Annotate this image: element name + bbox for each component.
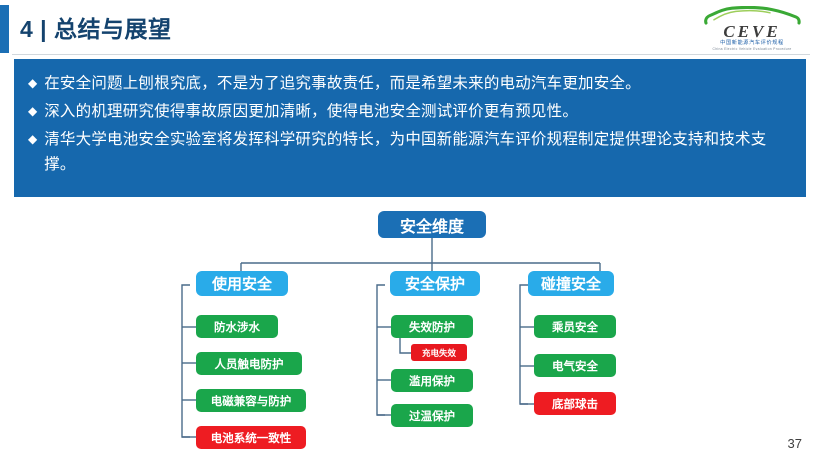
logo-wordmark: CEVE — [696, 24, 808, 39]
ceve-logo: CEVE 中国新能源汽车评价规程 China Electric Vehicle … — [696, 6, 808, 52]
tree-node-collision-safety[interactable]: 碰撞安全 — [528, 271, 614, 296]
tree-leaf-bottom-ball-impact[interactable]: 底部球击 — [534, 392, 616, 415]
page-number: 37 — [788, 436, 802, 451]
tree-leaf-occupant-safety[interactable]: 乘员安全 — [534, 315, 616, 338]
tree-node-usage-safety[interactable]: 使用安全 — [196, 271, 288, 296]
banner-bullet-2-text: 深入的机理研究使得事故原因更加清晰，使得电池安全测试评价更有预见性。 — [44, 99, 792, 124]
tree-leaf-electrical-safety[interactable]: 电气安全 — [534, 354, 616, 377]
tree-leaf-abuse-protection[interactable]: 滥用保护 — [391, 369, 473, 392]
page-title: 4 | 总结与展望 — [20, 10, 172, 44]
tree-leaf-emc-protection[interactable]: 电磁兼容与防护 — [196, 389, 306, 412]
tree-leaf-electric-shock-protection[interactable]: 人员触电防护 — [196, 352, 302, 375]
header-accent-bar — [0, 5, 9, 53]
tree-subleaf-charging-failure[interactable]: 充电失效 — [411, 344, 467, 361]
banner-bullet-3-text: 清华大学电池安全实验室将发挥科学研究的特长，为中国新能源汽车评价规程制定提供理论… — [44, 127, 792, 177]
tree-leaf-waterproof-wading[interactable]: 防水涉水 — [196, 315, 278, 338]
logo-chinese-subtitle: 中国新能源汽车评价规程 — [696, 40, 808, 47]
diamond-bullet-icon: ◆ — [28, 127, 37, 152]
banner-bullet-3: ◆ 清华大学电池安全实验室将发挥科学研究的特长，为中国新能源汽车评价规程制定提供… — [28, 127, 792, 177]
tree-leaf-battery-system-consistency[interactable]: 电池系统一致性 — [196, 426, 306, 449]
logo-english-subtitle: China Electric Vehicle Evaluation Proced… — [696, 47, 808, 52]
tree-leaf-failure-protection[interactable]: 失效防护 — [391, 315, 473, 338]
banner-bullet-2: ◆ 深入的机理研究使得事故原因更加清晰，使得电池安全测试评价更有预见性。 — [28, 99, 792, 124]
banner-bullet-1-text: 在安全问题上刨根究底，不是为了追究事故责任，而是希望未来的电动汽车更加安全。 — [44, 71, 792, 96]
summary-banner: ◆ 在安全问题上刨根究底，不是为了追究事故责任，而是希望未来的电动汽车更加安全。… — [14, 59, 806, 197]
tree-node-safety-protection[interactable]: 安全保护 — [390, 271, 480, 296]
tree-leaf-overtemperature-protection[interactable]: 过温保护 — [391, 404, 473, 427]
diamond-bullet-icon: ◆ — [28, 71, 37, 96]
banner-bullet-1: ◆ 在安全问题上刨根究底，不是为了追究事故责任，而是希望未来的电动汽车更加安全。 — [28, 71, 792, 96]
diamond-bullet-icon: ◆ — [28, 99, 37, 124]
header-divider-rule — [12, 54, 810, 55]
safety-dimension-tree-diagram: 安全维度 使用安全 安全保护 碰撞安全 防水涉水 人员触电防护 电磁兼容与防护 … — [0, 197, 820, 461]
slide: 4 | 总结与展望 CEVE 中国新能源汽车评价规程 China Electri… — [0, 0, 820, 461]
tree-node-root[interactable]: 安全维度 — [378, 211, 486, 238]
